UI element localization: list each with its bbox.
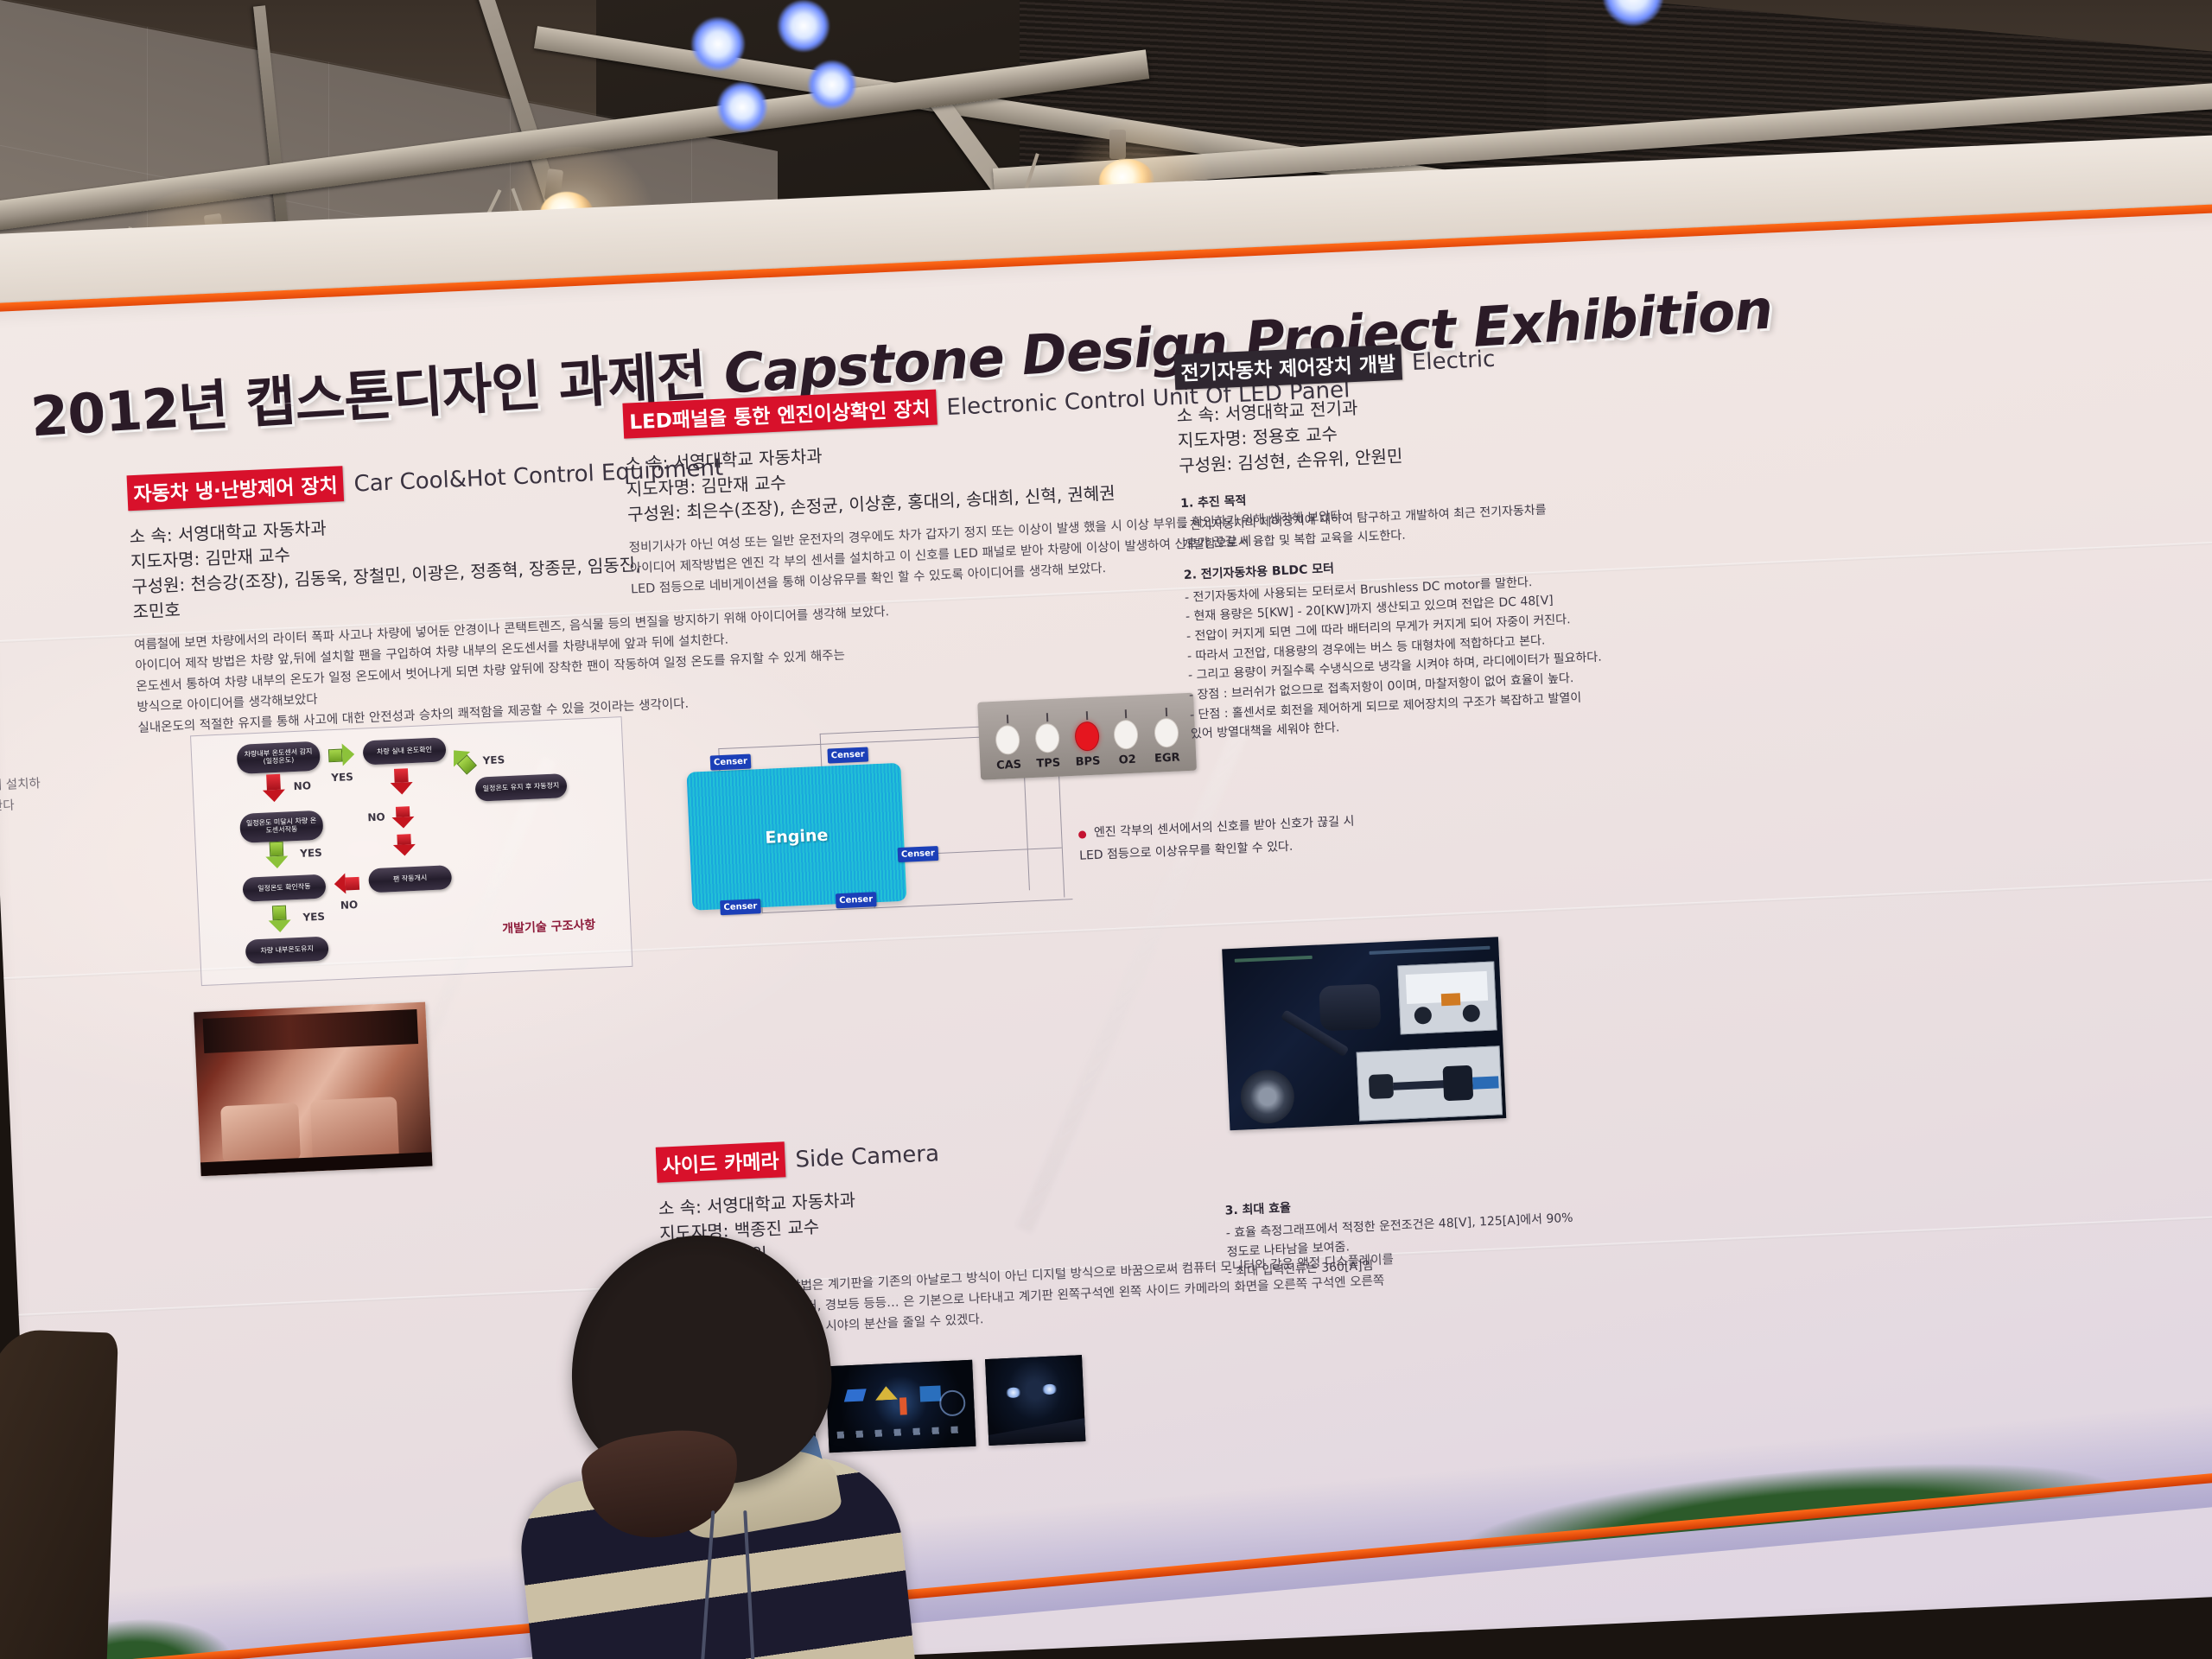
diagram-note-line: 엔진 각부의 센서에서의 신호를 받아 신호가 끊길 시 (1094, 812, 1355, 843)
led-ray-icon (1007, 715, 1008, 723)
banner-title-kr: 2012년 캡스톤디자인 과제전 (29, 344, 708, 448)
flow-node: 차량 내부온도유지 (245, 936, 329, 963)
led-cell: BPS (1074, 721, 1101, 769)
led-cell: TPS (1034, 723, 1060, 771)
led-ray-icon (1046, 713, 1048, 721)
flow-arrow-down-red (391, 806, 415, 829)
sensor-censer: Censer (710, 754, 752, 771)
sensor-censer: Censer (827, 747, 868, 763)
flow-node: 일정온도 유지 후 자동정지 (474, 773, 567, 802)
sensor-censer: Censer (898, 846, 939, 862)
led-ray-icon (1085, 711, 1087, 720)
section-meta: 소 속: 서영대학교 자동차과 지도자명: 김만재 교수 구성원: 천승강(조장… (129, 502, 652, 626)
led-label: O2 (1118, 753, 1136, 767)
flow-label-yes: YES (300, 847, 322, 860)
flow-arrow-down-red (392, 834, 416, 856)
brake-disc (1240, 1069, 1296, 1125)
led-ray-icon (1165, 708, 1166, 716)
inset-photo-chassis (1397, 961, 1497, 1034)
note-bullet-icon (1078, 830, 1086, 838)
flow-node: 차량 실내 온도확인 (362, 737, 446, 765)
led-label: BPS (1075, 755, 1100, 769)
led-cell: CAS (995, 725, 1021, 772)
led-indicator (1114, 720, 1139, 750)
ev-group-1: 1. 추진 목적 - 전기자동차의 제어장치에 대하여 탐구하고 개발하여 최근… (1180, 470, 1736, 556)
headlight-glow-left (1006, 1387, 1022, 1398)
ev-group-2: 2. 전기자동차용 BLDC 모터 - 전기자동차에 사용되는 모터로서 Bru… (1183, 542, 1744, 745)
flow-label-yes: YES (331, 771, 353, 784)
banner-bottom-scenery (1, 1397, 2212, 1659)
flow-arrow-down-red (262, 774, 285, 803)
section-car-cool-hot: 자동차 냉·난방제어 장치 Car Cool&Hot Control Equip… (127, 453, 657, 740)
section-ev-control: 전기자동차 제어장치 개발 Electric 소 속: 서영대학교 전기과 지도… (1174, 330, 1744, 745)
led-indicator (1154, 717, 1179, 747)
flow-node: 일정온도 미달시 차량 온도센서작동 (239, 810, 323, 843)
person-visitor (553, 1236, 985, 1659)
motor-housing (1319, 983, 1381, 1031)
flow-node: 일정온도 확인작동 (242, 874, 326, 902)
led-indicator (995, 725, 1020, 755)
wire-path (1058, 768, 1065, 898)
led-indicator (1034, 723, 1059, 753)
photo-watermark-text (1235, 956, 1313, 963)
wire-path (820, 734, 823, 768)
clipped-left-text: …에 설치하 …한다 (0, 772, 92, 819)
engine-diagram: Engine Censer Censer Censer Censer Cense… (649, 680, 1264, 957)
flow-arrow-up-right-green (446, 743, 480, 778)
hall-spotlight-1 (691, 17, 745, 71)
exhibition-banner: 2012년 캡스톤디자인 과제전 Capstone Design Project… (0, 211, 2212, 1659)
led-indicator-panel: CAS TPS BPS O2 EGR (977, 693, 1197, 780)
flow-label-yes: YES (482, 753, 505, 766)
hall-spotlight-2 (778, 0, 829, 52)
flow-label-no: NO (293, 779, 311, 792)
led-ray-icon (1125, 709, 1127, 718)
headlight-glow-right (1041, 1383, 1058, 1395)
flow-node: 팬 작동개시 (368, 865, 452, 893)
flow-label-yes: YES (302, 911, 325, 924)
flow-arrow-down-green (268, 905, 291, 932)
hall-spotlight-4 (808, 60, 856, 109)
section-tag-kr: 자동차 냉·난방제어 장치 (127, 466, 345, 511)
hall-spotlight-3 (717, 82, 767, 132)
flow-label-no: NO (340, 899, 359, 912)
photo-car-interior (194, 1002, 432, 1177)
flowchart-caption: 개발기술 구조사항 (502, 916, 596, 938)
led-label: TPS (1036, 757, 1060, 771)
engine-block: Engine (686, 763, 906, 911)
led-indicator-active (1074, 721, 1099, 752)
section-header: 자동차 냉·난방제어 장치 Car Cool&Hot Control Equip… (127, 453, 646, 512)
flow-arrow-left-red (334, 873, 359, 894)
exhibition-photo: 2012년 캡스톤디자인 과제전 Capstone Design Project… (0, 0, 2212, 1659)
photo-heading-text (1369, 946, 1490, 955)
led-cell: EGR (1153, 717, 1180, 765)
section-title-en: Side Camera (795, 1141, 940, 1173)
flowchart-container: 차량내부 온도센서 감지 (일정온도) 차량 실내 온도확인 일정온도 미달시 … (190, 716, 632, 986)
section-tag-kr: 사이드 카메라 (656, 1141, 786, 1183)
flow-arrow-right-green (328, 743, 355, 766)
section-meta: 소 속: 서영대학교 전기과 지도자명: 정용호 교수 구성원: 김성현, 손유… (1176, 379, 1732, 479)
led-label: CAS (996, 759, 1022, 772)
flow-node: 차량내부 온도센서 감지 (일정온도) (237, 741, 321, 774)
wire-path (1024, 769, 1030, 890)
photo-night-side-view (985, 1355, 1085, 1446)
led-label: EGR (1154, 751, 1180, 765)
flow-arrow-down-green (265, 841, 289, 868)
section-title-en: Electric (1411, 346, 1496, 376)
sensor-censer: Censer (720, 899, 761, 915)
flow-arrow-down-red (390, 768, 413, 795)
inset-photo-axle (1357, 1046, 1503, 1121)
photo-ev-drivetrain (1222, 937, 1506, 1130)
led-cell: O2 (1114, 720, 1140, 767)
person-left-partial (0, 1329, 118, 1659)
sensor-censer: Censer (836, 892, 877, 908)
flow-label-no: NO (367, 810, 385, 823)
